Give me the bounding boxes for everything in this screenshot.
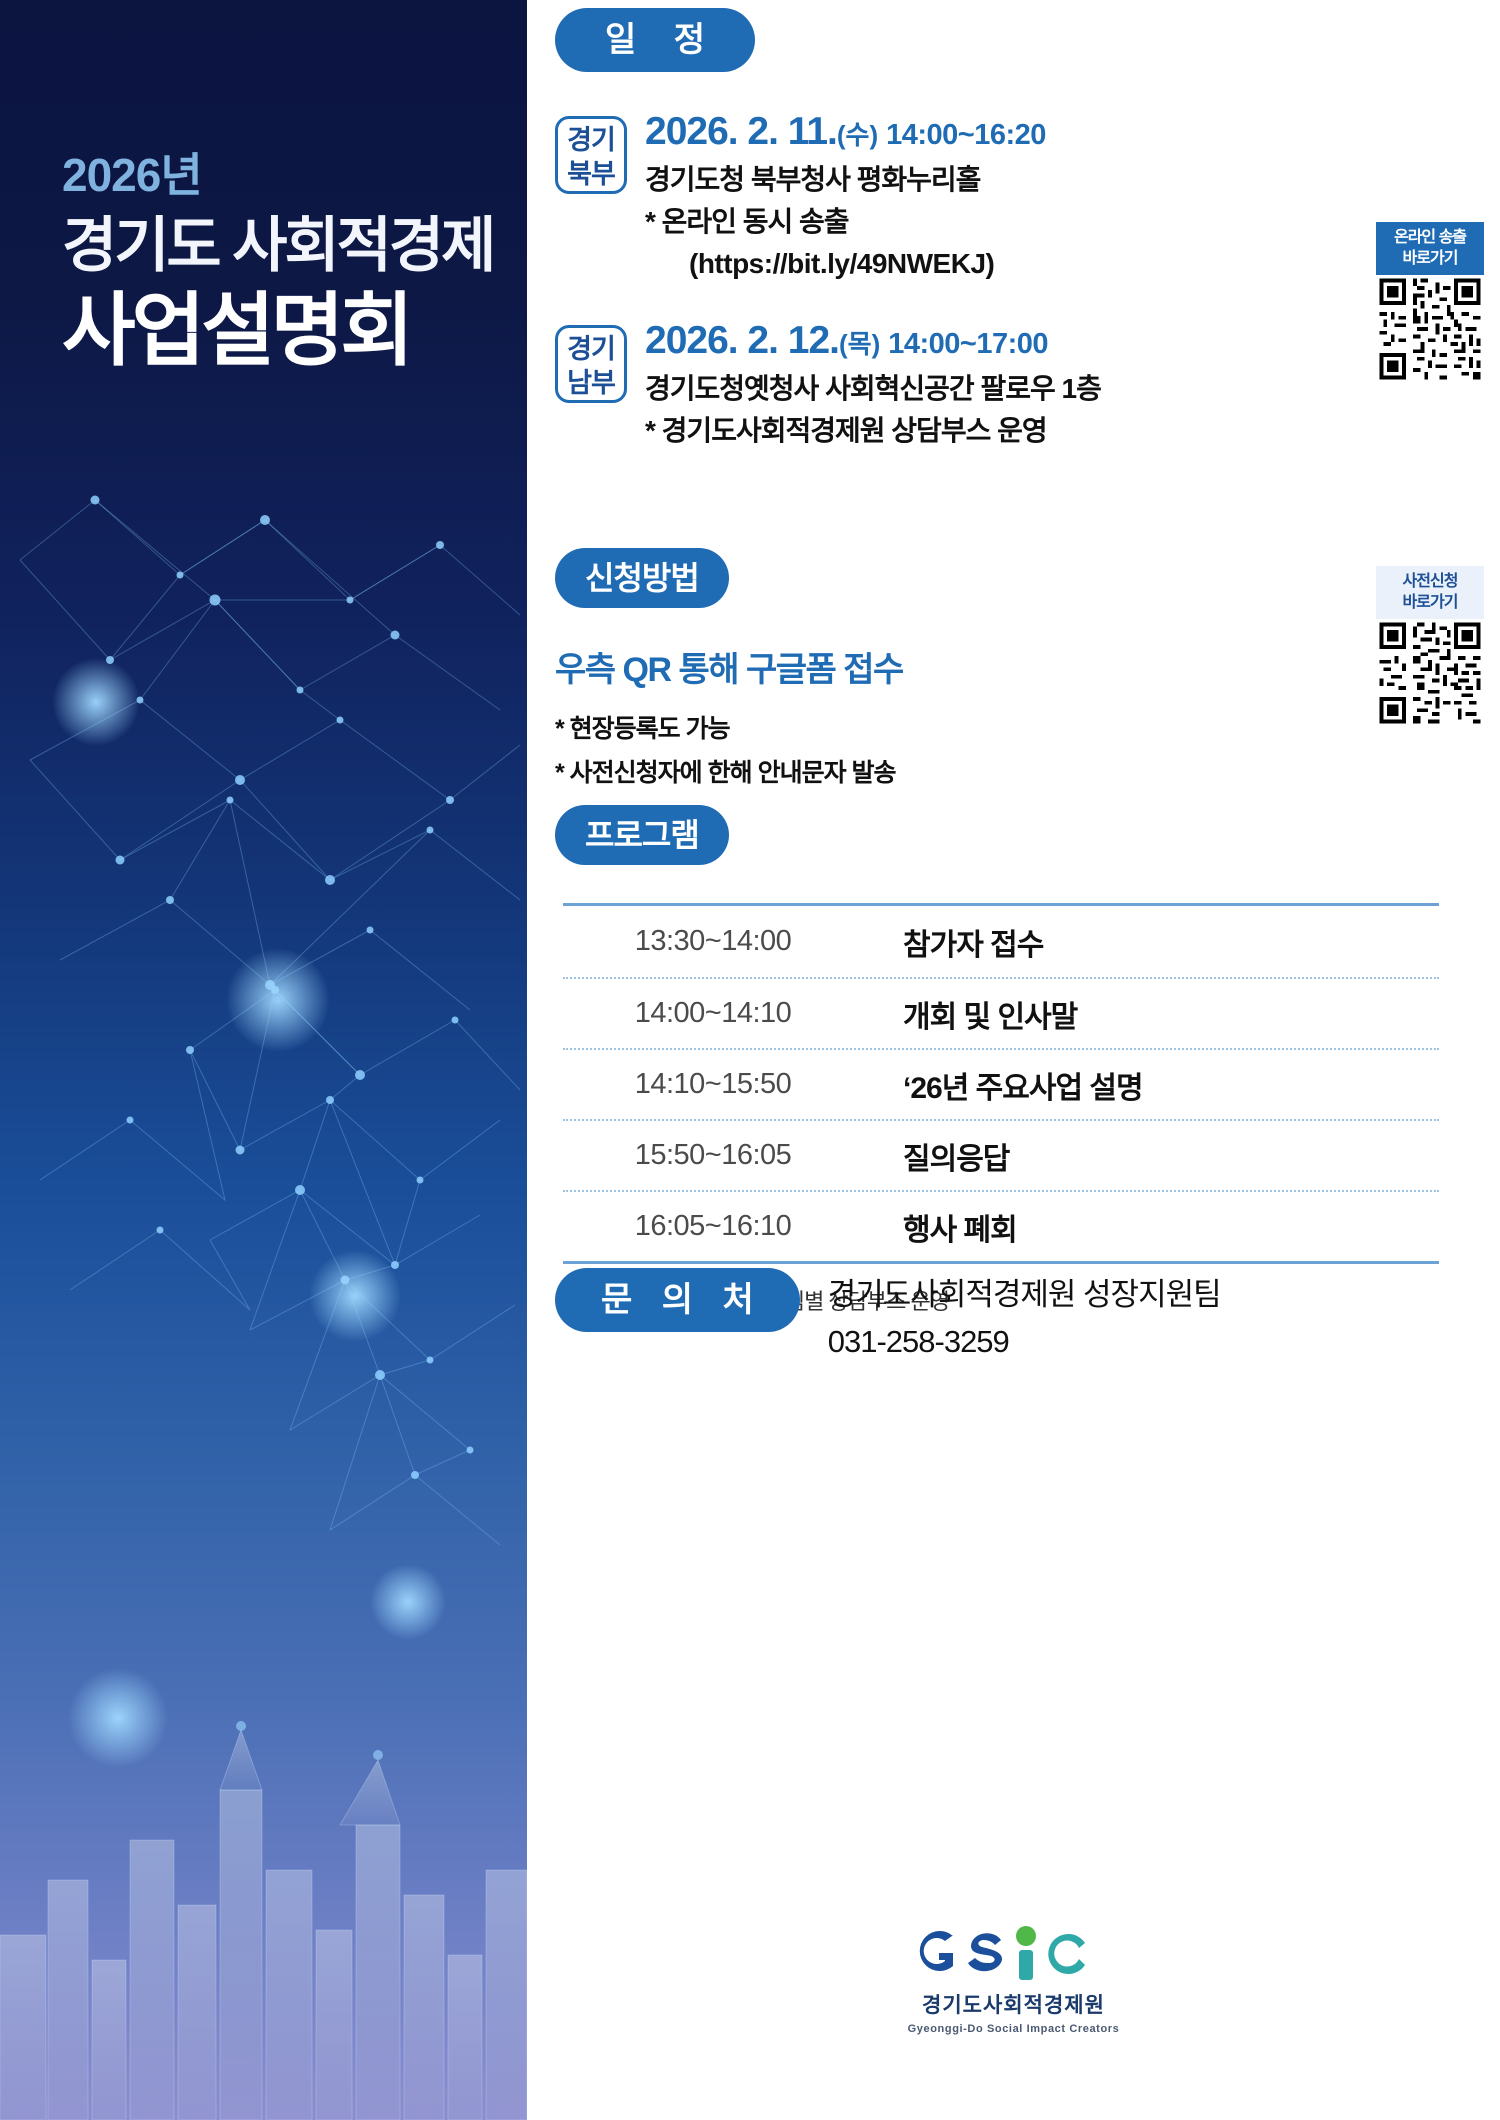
schedule-heading: 일 정 <box>555 8 755 72</box>
schedule-north-venue: 경기도청 북부청사 평화누리홀 <box>645 159 1046 201</box>
program-heading: 프로그램 <box>555 805 729 865</box>
schedule-item-south-datetime: 2026. 2. 12.(목)14:00~17:00 <box>645 319 1101 364</box>
schedule-heading-wrap: 일 정 <box>555 8 1500 72</box>
contact-heading: 문 의 처 <box>555 1268 800 1332</box>
table-row: 14:00~14:10 개회 및 인사말 <box>563 977 1439 1048</box>
schedule-item-south: 경기 남부 2026. 2. 12.(목)14:00~17:00 경기도청옛청사… <box>555 319 1500 452</box>
program-name-4: 질의응답 <box>863 1134 1439 1178</box>
schedule-north-note: * 온라인 동시 송출 <box>645 201 1046 243</box>
logo-name-ko: 경기도사회적경제원 <box>527 1989 1500 2019</box>
program-time-4: 15:50~16:05 <box>563 1139 863 1172</box>
apply-note-2: * 사전신청자에 한해 안내문자 발송 <box>555 753 1500 793</box>
table-row: 13:30~14:00 참가자 접수 <box>563 906 1439 977</box>
qr-online-label-line2: 바로가기 <box>1376 248 1484 269</box>
schedule-south-day: (목) <box>839 329 880 359</box>
region-badge-north: 경기 북부 <box>555 116 627 194</box>
schedule-item-south-body: 2026. 2. 12.(목)14:00~17:00 경기도청옛청사 사회혁신공… <box>645 319 1101 452</box>
qr-online-label-line1: 온라인 송출 <box>1376 227 1484 248</box>
logo-name-en: Gyeonggi-Do Social Impact Creators <box>527 2023 1500 2035</box>
contact-organization: 경기도사회적경제원 성장지원팀 <box>828 1272 1221 1319</box>
poster-root: 2026년 경기도 사회적경제 사업설명회 일 정 경기 북부 202 <box>0 0 1500 2120</box>
program-section: 프로그램 13:30~14:00 참가자 접수 14:00~14:10 개회 및… <box>555 805 1500 1316</box>
table-row: 16:05~16:10 행사 폐회 <box>563 1190 1439 1261</box>
contact-body: 경기도사회적경제원 성장지원팀 031-258-3259 <box>828 1272 1221 1365</box>
program-time-5: 16:05~16:10 <box>563 1210 863 1243</box>
program-name-1: 참가자 접수 <box>863 920 1439 964</box>
schedule-rows: 경기 북부 2026. 2. 11.(수)14:00~16:20 경기도청 북부… <box>555 110 1500 452</box>
schedule-section: 일 정 경기 북부 2026. 2. 11.(수)14:00~16:20 경기도… <box>555 8 1500 486</box>
schedule-south-time: 14:00~17:00 <box>888 328 1048 360</box>
title-year: 2026년 <box>62 150 522 201</box>
contact-section: 문 의 처 경기도사회적경제원 성장지원팀 031-258-3259 <box>555 1268 1500 1365</box>
schedule-north-date: 2026. 2. 11. <box>645 110 837 153</box>
title-line-2: 사업설명회 <box>62 285 522 376</box>
apply-section: 신청방법 우측 QR 통해 구글폼 접수 * 현장등록도 가능 * 사전신청자에… <box>555 548 1500 793</box>
poster-right-panel: 일 정 경기 북부 2026. 2. 11.(수)14:00~16:20 경기도… <box>527 0 1500 2120</box>
region-badge-south: 경기 남부 <box>555 325 627 403</box>
region-badge-south-line2: 남부 <box>558 366 624 400</box>
program-name-3: ‘26년 주요사업 설명 <box>863 1063 1439 1107</box>
schedule-north-time: 14:00~16:20 <box>886 119 1046 151</box>
schedule-south-date: 2026. 2. 12. <box>645 319 839 362</box>
region-badge-north-line2: 북부 <box>558 157 624 191</box>
apply-note-1: * 현장등록도 가능 <box>555 709 1500 749</box>
gsic-logo-icon <box>909 1920 1119 1982</box>
footer-logo: 경기도사회적경제원 Gyeonggi-Do Social Impact Crea… <box>527 1920 1500 2035</box>
title-line-1: 경기도 사회적경제 <box>62 211 522 282</box>
schedule-item-north-body: 2026. 2. 11.(수)14:00~16:20 경기도청 북부청사 평화누… <box>645 110 1046 285</box>
schedule-item-north-datetime: 2026. 2. 11.(수)14:00~16:20 <box>645 110 1046 155</box>
apply-heading: 신청방법 <box>555 548 729 608</box>
schedule-south-venue: 경기도청옛청사 사회혁신공간 팔로우 1층 <box>645 368 1101 410</box>
program-table-bottom-rule <box>563 1261 1439 1264</box>
program-time-2: 14:00~14:10 <box>563 997 863 1030</box>
apply-main-text: 우측 QR 통해 구글폼 접수 <box>555 642 1500 691</box>
program-table: 13:30~14:00 참가자 접수 14:00~14:10 개회 및 인사말 … <box>563 903 1439 1316</box>
qr-online-code-icon[interactable] <box>1376 275 1484 383</box>
contact-phone: 031-258-3259 <box>828 1319 1221 1366</box>
schedule-item-north: 경기 북부 2026. 2. 11.(수)14:00~16:20 경기도청 북부… <box>555 110 1500 285</box>
poster-left-panel: 2026년 경기도 사회적경제 사업설명회 <box>0 0 527 2120</box>
program-time-3: 14:10~15:50 <box>563 1068 863 1101</box>
table-row: 15:50~16:05 질의응답 <box>563 1119 1439 1190</box>
region-badge-south-line1: 경기 <box>558 332 624 366</box>
qr-online-broadcast[interactable]: 온라인 송출 바로가기 <box>1376 222 1484 383</box>
table-row: 14:10~15:50 ‘26년 주요사업 설명 <box>563 1048 1439 1119</box>
schedule-south-note: * 경기도사회적경제원 상담부스 운영 <box>645 410 1101 452</box>
program-name-2: 개회 및 인사말 <box>863 992 1439 1036</box>
poster-title: 2026년 경기도 사회적경제 사업설명회 <box>62 150 522 377</box>
schedule-north-url[interactable]: (https://bit.ly/49NWEKJ) <box>645 243 1046 285</box>
schedule-north-day: (수) <box>837 120 878 150</box>
region-badge-north-line1: 경기 <box>558 123 624 157</box>
program-name-5: 행사 폐회 <box>863 1205 1439 1249</box>
program-time-1: 13:30~14:00 <box>563 925 863 958</box>
qr-online-label: 온라인 송출 바로가기 <box>1376 222 1484 275</box>
